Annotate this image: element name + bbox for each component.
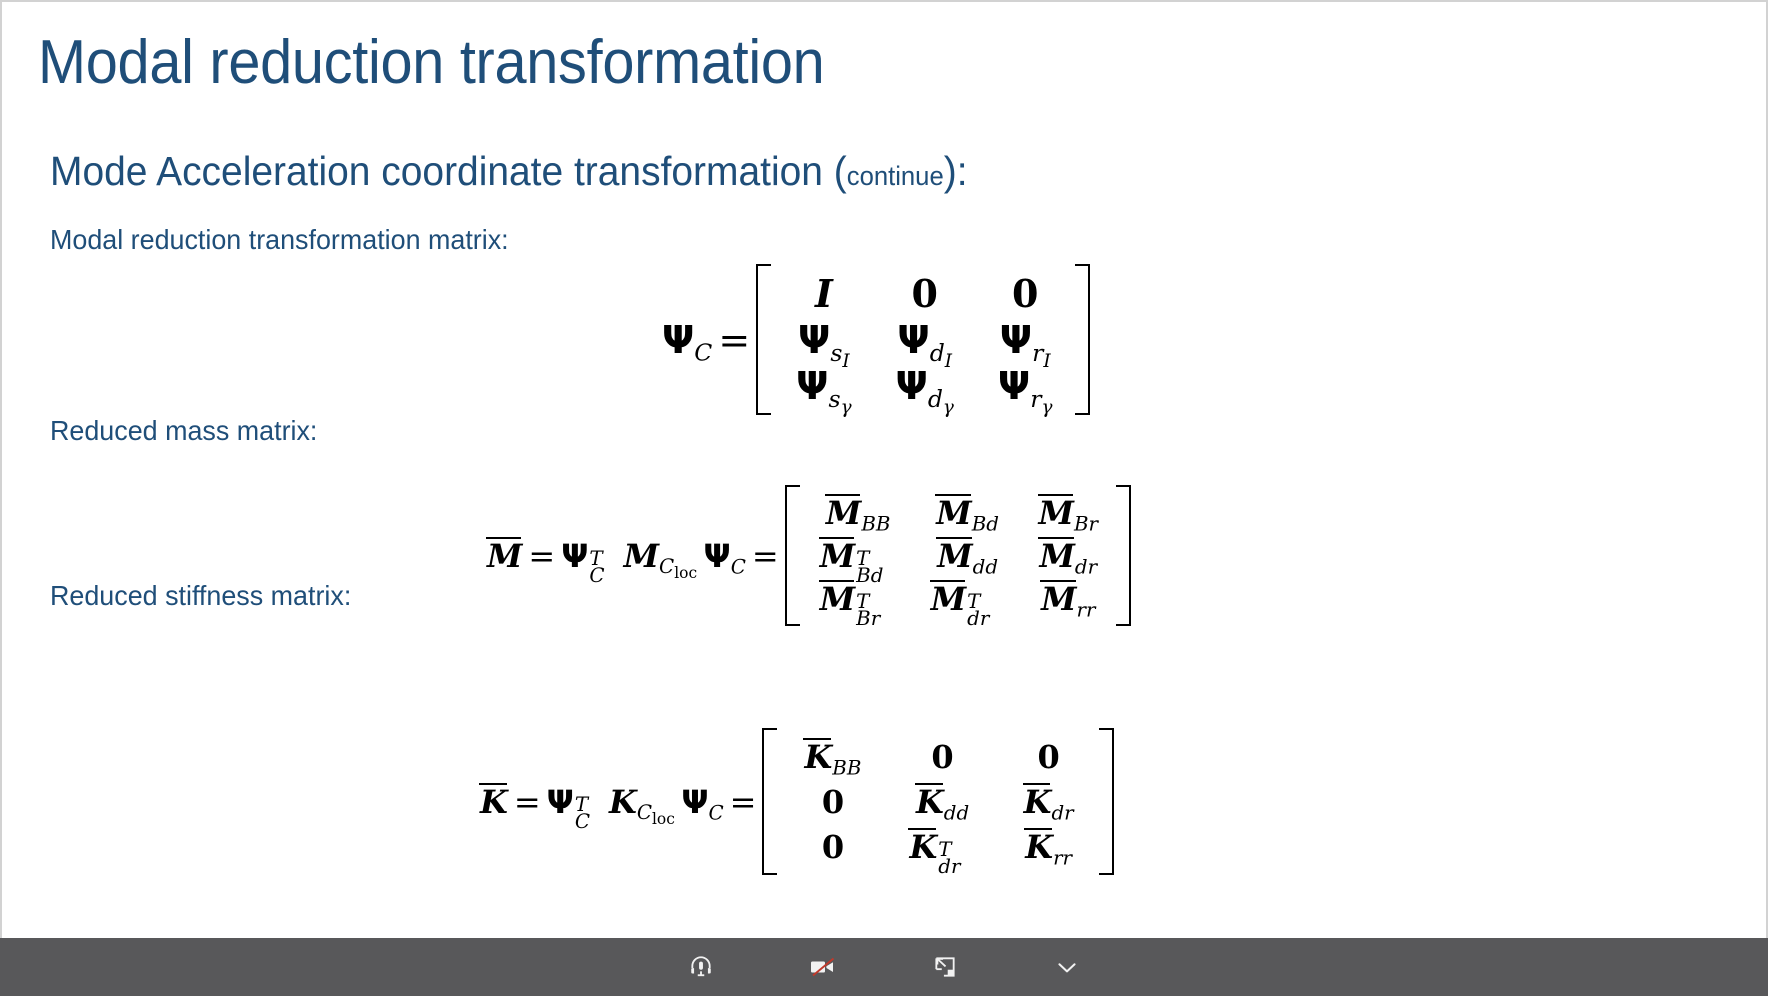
subtitle-continue-note: continue (847, 161, 944, 191)
equation-reduced-mass-matrix: M=ΨTCMCloc ΨC= MBB MBd MBr MTBd Mdd Mdr (487, 485, 1131, 626)
matrix-cell: I (774, 270, 873, 317)
subtitle-main-after: ): (944, 148, 968, 194)
matrix-row: I 0 0 (774, 270, 1074, 317)
matrix-cell: Krr (1000, 824, 1098, 869)
matrix-cell: Kdr (1000, 779, 1098, 824)
matrix-cell: Ψrγ (976, 363, 1075, 409)
headset-audio-icon[interactable] (679, 947, 723, 987)
share-screen-icon[interactable] (923, 947, 967, 987)
matrix-row: 0 Kdd Kdr (780, 779, 1097, 824)
matrix-cell: 0 (780, 779, 885, 824)
matrix-row: 0 KTdr Krr (780, 824, 1097, 869)
matrix-cell: MTdr (914, 577, 1022, 620)
matrix-cell: 0 (885, 734, 999, 779)
slide-frame: Modal reduction transformation Mode Acce… (0, 0, 1768, 938)
matrix-cell: 0 (1000, 734, 1098, 779)
equation-lhs: K=ΨTCKCloc ΨC= (480, 782, 762, 821)
matrix-row: MTBr MTdr Mrr (803, 577, 1115, 620)
matrix-cell: 0 (874, 270, 976, 317)
matrix-cell: MBr (1022, 491, 1115, 534)
matrix-cell: MBB (803, 491, 914, 534)
caption-reduced-stiffness-matrix: Reduced stiffness matrix: (50, 580, 351, 612)
matrix-cell: Ψsγ (774, 363, 873, 409)
subtitle-main-before: Mode Acceleration coordinate transformat… (50, 148, 847, 194)
matrix-cell: Mrr (1022, 577, 1115, 620)
matrix-cell: ΨrI (976, 317, 1075, 363)
matrix-cell: KTdr (885, 824, 999, 869)
matrix-cell: Mdd (914, 534, 1022, 577)
matrix-cell: Mdr (1022, 534, 1115, 577)
matrix-cell: Kdd (885, 779, 999, 824)
caption-transformation-matrix: Modal reduction transformation matrix: (50, 224, 509, 256)
equation-reduced-stiffness-matrix: K=ΨTCKCloc ΨC= KBB 0 0 0 Kdd Kdr (480, 728, 1114, 875)
presentation-screen: Modal reduction transformation Mode Acce… (0, 0, 1768, 996)
matrix-psi-c: I 0 0 ΨsI ΨdI ΨrI Ψsγ Ψdγ Ψrγ (756, 264, 1090, 415)
meeting-toolbar (0, 938, 1768, 996)
section-subtitle: Mode Acceleration coordinate transformat… (50, 148, 968, 195)
equation-lhs: M=ΨTCMCloc ΨC= (487, 536, 785, 575)
matrix-cell: ΨdI (874, 317, 976, 363)
matrix-row: Ψsγ Ψdγ Ψrγ (774, 363, 1074, 409)
equation-lhs: ΨC= (662, 318, 756, 362)
matrix-cell: ΨsI (774, 317, 873, 363)
slide-content: Modal reduction transformation Mode Acce… (2, 2, 1766, 938)
matrix-m-bar: MBB MBd MBr MTBd Mdd Mdr MTBr MTdr M (785, 485, 1131, 626)
matrix-cell: MBd (914, 491, 1022, 534)
matrix-row: ΨsI ΨdI ΨrI (774, 317, 1074, 363)
matrix-cell: MTBd (803, 534, 914, 577)
camera-off-icon[interactable] (801, 947, 845, 987)
matrix-cell: KBB (780, 734, 885, 779)
matrix-row: KBB 0 0 (780, 734, 1097, 779)
matrix-cell: 0 (976, 270, 1075, 317)
matrix-row: MTBd Mdd Mdr (803, 534, 1115, 577)
matrix-cell: 0 (780, 824, 885, 869)
caption-reduced-mass-matrix: Reduced mass matrix: (50, 415, 317, 447)
matrix-row: MBB MBd MBr (803, 491, 1115, 534)
equation-transformation-matrix: ΨC= I 0 0 ΨsI ΨdI ΨrI (662, 264, 1090, 415)
matrix-cell: Ψdγ (874, 363, 976, 409)
matrix-k-bar: KBB 0 0 0 Kdd Kdr 0 KTdr Krr (762, 728, 1113, 875)
page-title: Modal reduction transformation (38, 32, 824, 94)
chevron-down-icon[interactable] (1045, 947, 1089, 987)
